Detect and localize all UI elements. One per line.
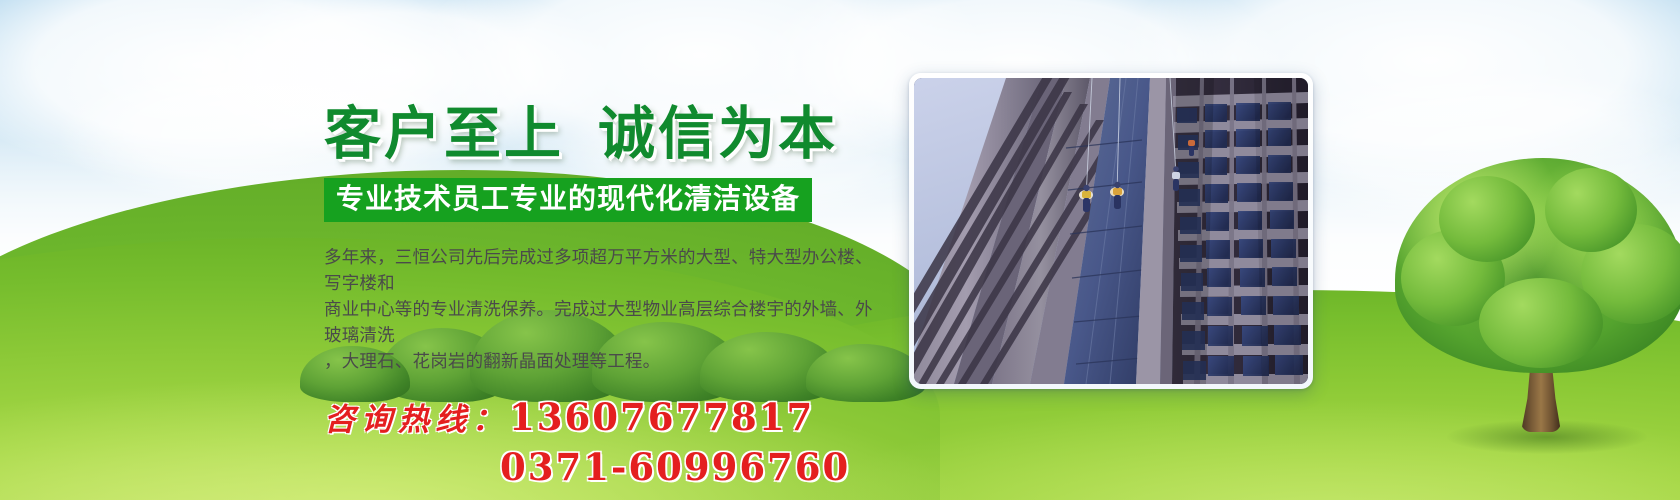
- description-paragraph: 多年来，三恒公司先后完成过多项超万平方米的大型、特大型办公楼、写字楼和 商业中心…: [324, 244, 890, 374]
- tree-illustration: [1395, 158, 1680, 448]
- phone-mobile[interactable]: 13607677817: [509, 395, 814, 439]
- banner-copy: 客户至上诚信为本 专业技术员工专业的现代化清洁设备 多年来，三恒公司先后完成过多…: [324, 104, 924, 489]
- building-photo-card[interactable]: [909, 73, 1313, 389]
- headline-part-1: 客户至上: [324, 100, 564, 167]
- headline-part-2: 诚信为本: [598, 100, 838, 167]
- description-line: 商业中心等的专业清洗保养。完成过大型物业高层综合楼宇的外墙、外玻璃清洗: [324, 296, 890, 348]
- headline: 客户至上诚信为本: [324, 104, 924, 164]
- hotline-row: 咨询热线： 13607677817: [324, 394, 924, 439]
- hotline-label: 咨询热线：: [324, 394, 509, 439]
- description-line: 多年来，三恒公司先后完成过多项超万平方米的大型、特大型办公楼、写字楼和: [324, 244, 890, 296]
- phone-landline[interactable]: 0371-60996760: [324, 445, 924, 489]
- description-line: ，大理石、花岗岩的翻新晶面处理等工程。: [324, 348, 890, 374]
- rope-access-worker: [1188, 140, 1195, 156]
- promo-banner: 客户至上诚信为本 专业技术员工专业的现代化清洁设备 多年来，三恒公司先后完成过多…: [0, 0, 1680, 500]
- building-photo: [914, 78, 1308, 384]
- subtitle-bar: 专业技术员工专业的现代化清洁设备: [324, 178, 812, 222]
